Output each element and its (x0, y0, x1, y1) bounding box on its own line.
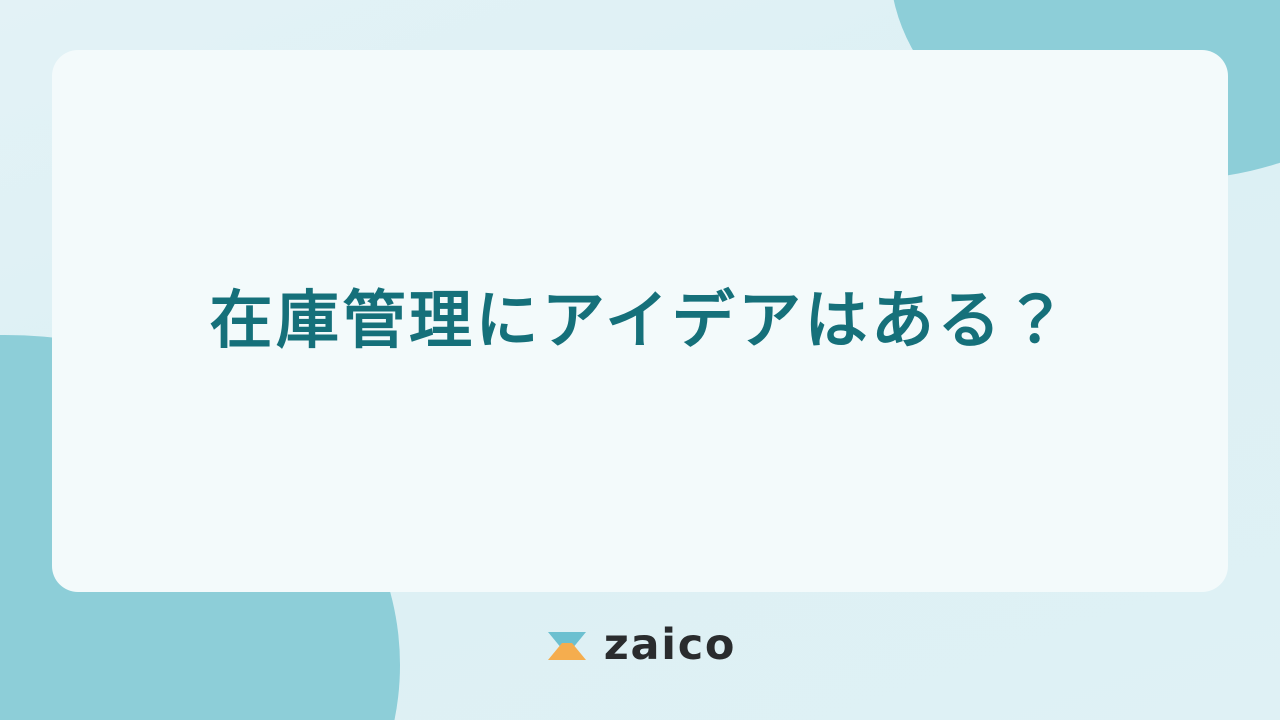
slide-headline: 在庫管理にアイデアはある？ (150, 281, 1131, 362)
zaico-wordmark: zaico (604, 624, 736, 667)
slide-canvas: 在庫管理にアイデアはある？ zaico (0, 0, 1280, 720)
brand-lockup: zaico (0, 618, 1280, 674)
zaico-logo-icon (544, 623, 590, 669)
content-card: 在庫管理にアイデアはある？ (52, 50, 1228, 592)
